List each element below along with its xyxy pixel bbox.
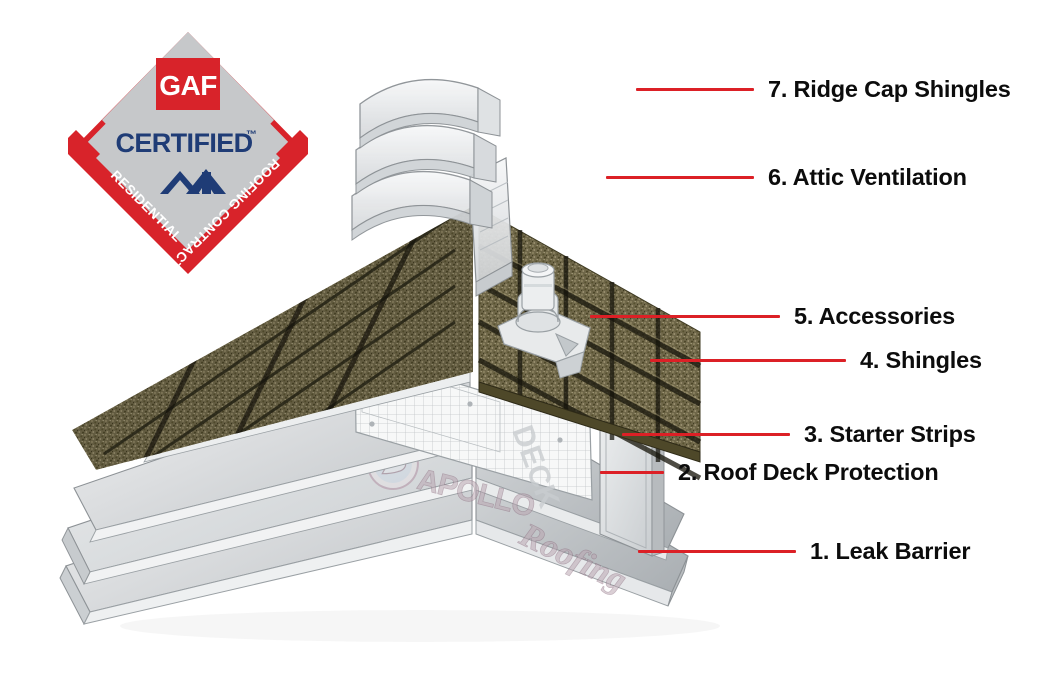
callout-list: 7. Ridge Cap Shingles 6. Attic Ventilati… [0, 0, 1048, 688]
leader-line-5 [590, 315, 780, 318]
callout-accessories[interactable]: 5. Accessories [590, 305, 955, 329]
callout-roof-deck-protection[interactable]: 2. Roof Deck Protection [600, 461, 938, 485]
callout-label-2: 2. Roof Deck Protection [678, 461, 938, 485]
leader-line-3 [622, 433, 790, 436]
diagram-canvas: APOLLO Roofing DECK [0, 0, 1048, 688]
callout-label-1: 1. Leak Barrier [810, 540, 970, 564]
callout-shingles[interactable]: 4. Shingles [650, 349, 982, 373]
callout-leak-barrier[interactable]: 1. Leak Barrier [638, 540, 970, 564]
callout-label-4: 4. Shingles [860, 349, 982, 373]
leader-line-4 [650, 359, 846, 362]
callout-attic-ventilation[interactable]: 6. Attic Ventilation [606, 166, 967, 190]
callout-label-7: 7. Ridge Cap Shingles [768, 78, 1011, 102]
callout-ridge-cap-shingles[interactable]: 7. Ridge Cap Shingles [636, 78, 1011, 102]
callout-starter-strips[interactable]: 3. Starter Strips [622, 423, 976, 447]
callout-label-3: 3. Starter Strips [804, 423, 976, 447]
leader-line-7 [636, 88, 754, 91]
callout-label-6: 6. Attic Ventilation [768, 166, 967, 190]
callout-label-5: 5. Accessories [794, 305, 955, 329]
leader-line-2 [600, 471, 664, 474]
leader-line-6 [606, 176, 754, 179]
leader-line-1 [638, 550, 796, 553]
